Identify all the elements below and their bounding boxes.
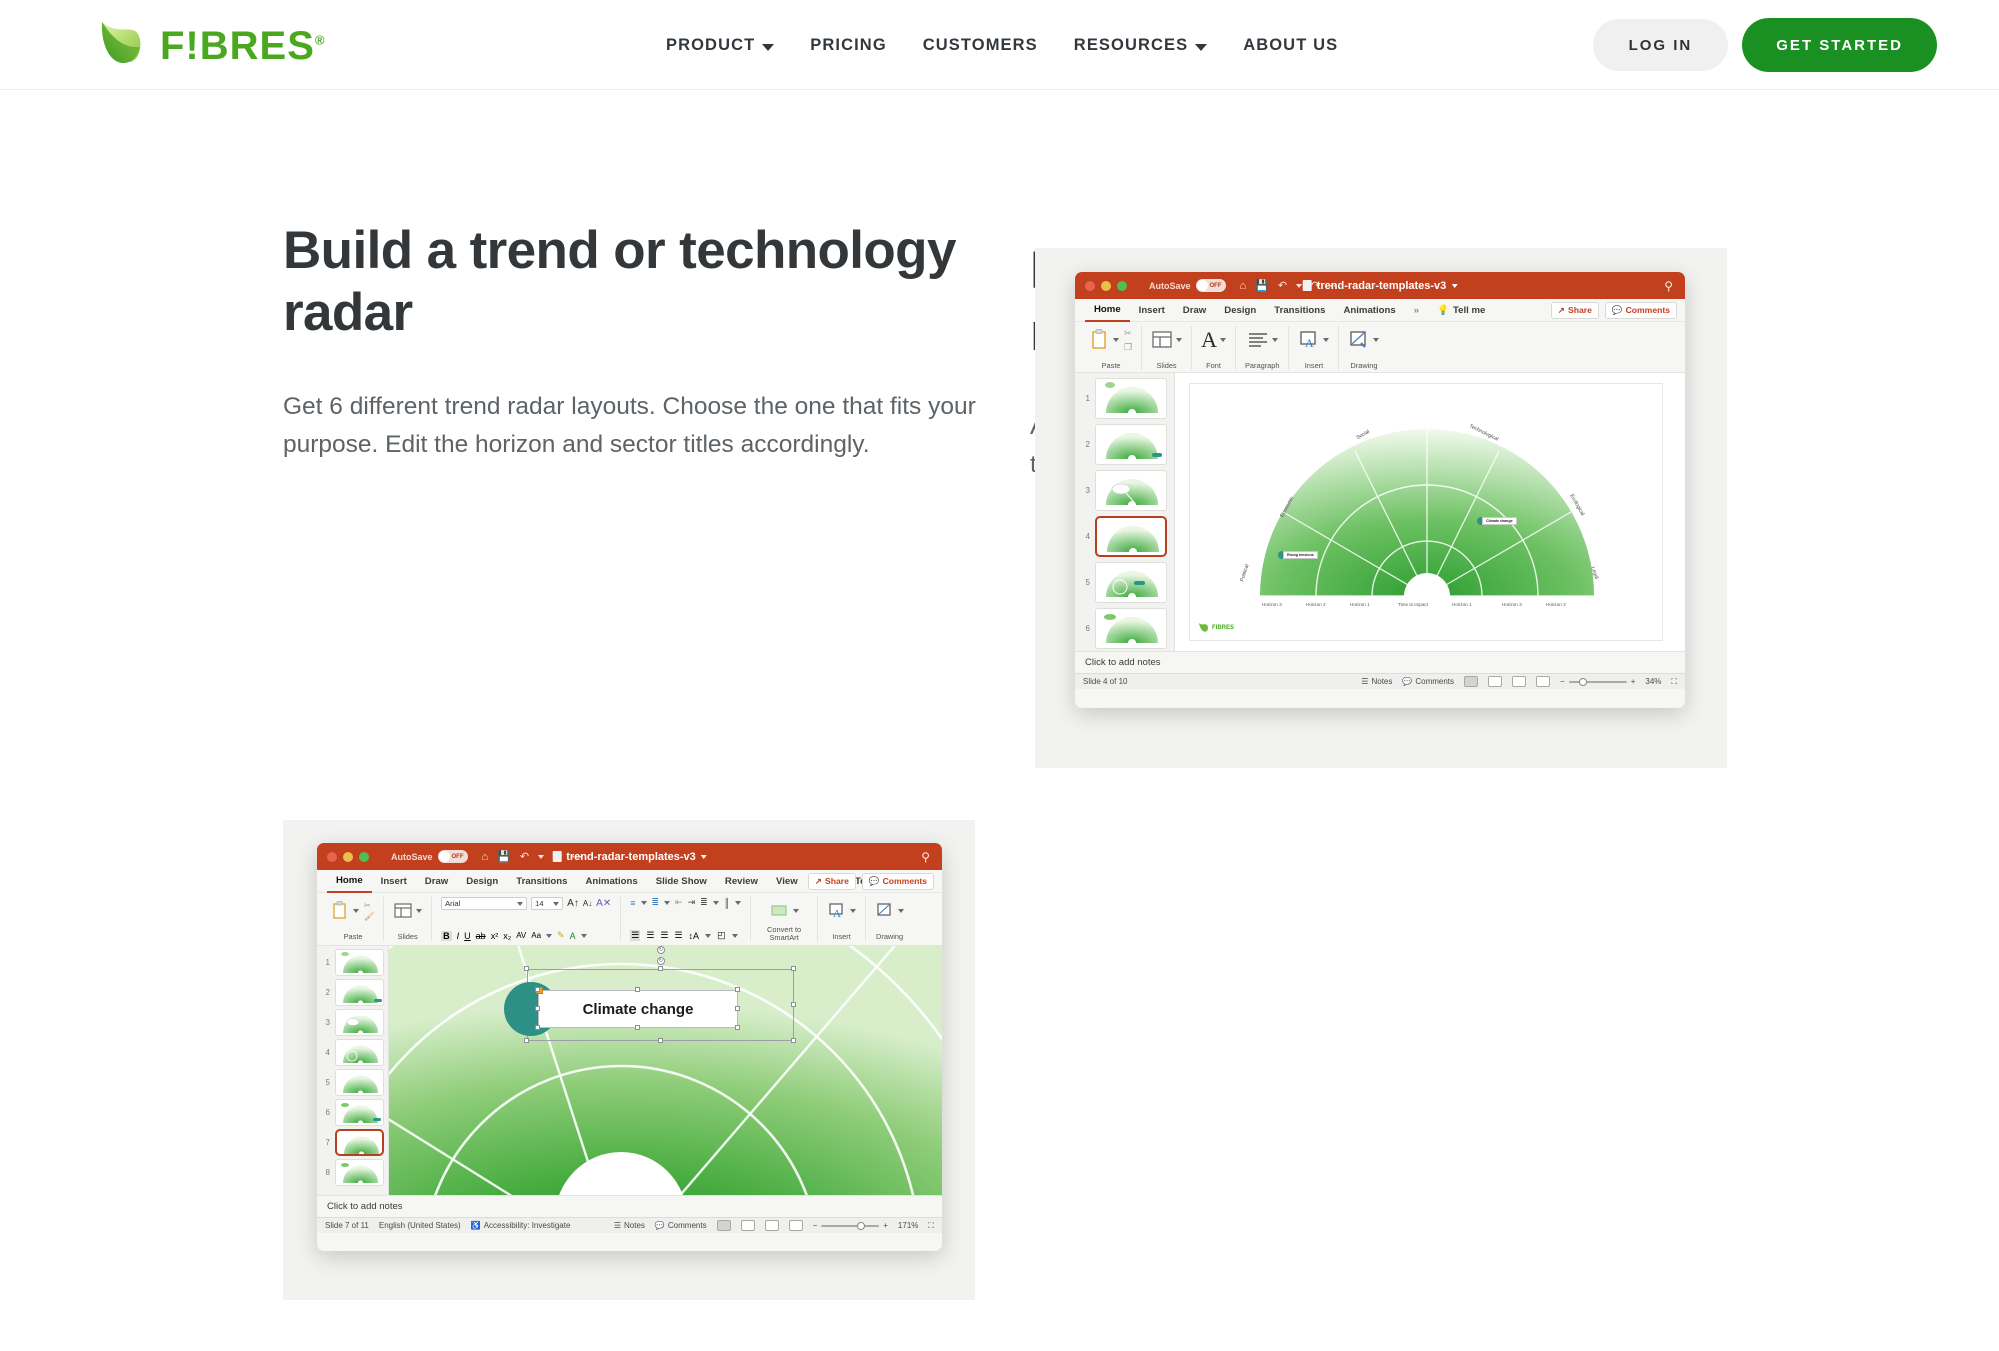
numbering-icon[interactable]: ≣ bbox=[652, 897, 660, 908]
fit-to-window-icon[interactable]: ⛶ bbox=[928, 1221, 934, 1231]
font-size-input[interactable]: 14 bbox=[531, 897, 563, 910]
ribbon-group-slides[interactable]: Slides bbox=[384, 897, 432, 941]
ppt-top-ribbon-tabs: Home Insert Draw Design Transitions Anim… bbox=[1075, 299, 1685, 322]
zoomed-radar-canvas[interactable]: ↻ ↻ Climate change bbox=[389, 946, 942, 1195]
section-1-text: Build a trend or technology radar Get 6 … bbox=[283, 220, 983, 464]
thumbnail-number: 4 bbox=[1081, 532, 1090, 541]
comment-icon: 💬 bbox=[869, 876, 880, 887]
minimize-icon[interactable] bbox=[1101, 281, 1111, 291]
autosave-toggle[interactable]: AutoSave OFF bbox=[391, 850, 468, 863]
superscript-icon[interactable]: x² bbox=[491, 931, 499, 941]
tab-animations[interactable]: Animations bbox=[1334, 299, 1404, 322]
zoom-in-icon[interactable]: + bbox=[883, 1221, 888, 1230]
comments-label: Comments bbox=[883, 876, 927, 886]
chevron-down-icon[interactable] bbox=[538, 855, 544, 859]
radar-horizon-label: Horizon 3 bbox=[1502, 602, 1522, 607]
slide-thumbnail[interactable] bbox=[1095, 608, 1167, 649]
slides-icon[interactable] bbox=[1151, 326, 1182, 354]
log-in-button[interactable]: LOG IN bbox=[1593, 19, 1729, 71]
ppt-top-titlebar: AutoSave OFF ⌂ 💾 ↶ ↷ ⋯ trend-radar-templ… bbox=[1075, 272, 1685, 299]
nav-label: CUSTOMERS bbox=[923, 36, 1038, 55]
ribbon-group-insert[interactable]: A Insert bbox=[1289, 326, 1339, 370]
font-size-value: 14 bbox=[535, 899, 543, 908]
trend-label-textbox[interactable]: Climate change bbox=[538, 990, 738, 1028]
save-icon[interactable]: 💾 bbox=[1255, 279, 1269, 292]
font-name-input[interactable]: Arial bbox=[441, 897, 527, 910]
comments-button[interactable]: 💬 Comments bbox=[655, 1221, 707, 1230]
search-icon[interactable]: ⚲ bbox=[921, 850, 930, 864]
chevron-down-icon[interactable] bbox=[850, 909, 856, 913]
autosave-label: AutoSave bbox=[391, 852, 433, 862]
ribbon-group-paste[interactable]: ✂ ❐ Paste bbox=[1081, 326, 1142, 370]
slide-fibres-logo: FIBRES bbox=[1198, 622, 1234, 633]
ribbon-group-label: Convert to SmartArt bbox=[760, 926, 808, 942]
svg-text:A: A bbox=[1305, 336, 1314, 350]
line-spacing-icon[interactable]: ≣ bbox=[700, 897, 708, 908]
zoom-knob[interactable] bbox=[857, 1222, 865, 1230]
slide-thumbnail[interactable] bbox=[335, 979, 384, 1006]
close-icon[interactable] bbox=[1085, 281, 1095, 291]
tabs-overflow-icon[interactable]: » bbox=[1405, 299, 1428, 322]
document-icon bbox=[552, 851, 561, 862]
ribbon-group-label: Paste bbox=[1102, 361, 1121, 370]
chevron-down-icon[interactable] bbox=[1451, 284, 1457, 288]
chevron-down-icon[interactable] bbox=[713, 901, 719, 905]
thumbnail-number: 8 bbox=[321, 1168, 330, 1177]
chevron-down-icon[interactable] bbox=[898, 909, 904, 913]
zoom-track[interactable] bbox=[821, 1225, 879, 1227]
zoom-out-icon[interactable]: − bbox=[813, 1221, 818, 1230]
tell-me-box[interactable]: 💡 Tell me bbox=[1428, 299, 1494, 322]
tab-transitions[interactable]: Transitions bbox=[1265, 299, 1334, 322]
selection-handle[interactable] bbox=[791, 1002, 796, 1007]
logo-registered-mark: ® bbox=[315, 33, 326, 48]
font-color-icon[interactable]: A bbox=[570, 931, 576, 941]
notes-label: Notes bbox=[1371, 677, 1392, 686]
radar-horizon-label: Horizon 3 bbox=[1546, 602, 1566, 607]
slide-logo-text: FIBRES bbox=[1212, 625, 1234, 631]
chevron-down-icon[interactable] bbox=[1113, 338, 1119, 342]
radar-bubble-climate-change[interactable]: Climate change bbox=[1477, 517, 1517, 525]
slide-counter: Slide 7 of 11 bbox=[325, 1221, 369, 1230]
selection-handle[interactable] bbox=[658, 1038, 663, 1043]
reading-view-button[interactable] bbox=[1512, 676, 1526, 687]
ribbon-group-paragraph[interactable]: ≡ ≣ ⇤ ⇥ ≣ ║ ☰ ☰ ☰ ☰ ↕A ◰ Paragr bbox=[621, 897, 751, 941]
logo[interactable]: F!BRES® bbox=[92, 14, 325, 72]
save-icon[interactable]: 💾 bbox=[497, 850, 511, 863]
chevron-down-icon[interactable] bbox=[416, 909, 422, 913]
thumbnail-number: 3 bbox=[321, 1018, 330, 1027]
maximize-icon[interactable] bbox=[359, 852, 369, 862]
chevron-down-icon bbox=[762, 44, 774, 51]
slide-sorter-view-button[interactable] bbox=[741, 1220, 755, 1231]
selection-handle[interactable] bbox=[791, 1038, 796, 1043]
slide-thumbnail[interactable] bbox=[335, 1039, 384, 1066]
ppt-bottom-notes[interactable]: Click to add notes bbox=[317, 1195, 942, 1217]
chevron-down-icon[interactable] bbox=[353, 909, 359, 913]
slide-sorter-view-button[interactable] bbox=[1488, 676, 1502, 687]
zoom-in-icon[interactable]: + bbox=[1631, 677, 1636, 686]
tab-home[interactable]: Home bbox=[1085, 299, 1130, 322]
ppt-top-slide-canvas[interactable]: Economic Social Technological Ecological… bbox=[1175, 373, 1685, 651]
slide-canvas[interactable]: Economic Social Technological Ecological… bbox=[1189, 383, 1663, 641]
ppt-top-ribbon-actions: ↗ Share 💬 Comments bbox=[1551, 302, 1677, 319]
align-right-icon[interactable]: ☰ bbox=[660, 930, 668, 941]
nav-item-product[interactable]: PRODUCT bbox=[648, 36, 792, 55]
comment-icon: 💬 bbox=[1402, 677, 1412, 686]
textbox-handle[interactable] bbox=[635, 1025, 640, 1030]
ppt-bottom-ribbon-tabs: Home Insert Draw Design Transitions Anim… bbox=[317, 870, 942, 893]
ppt-top-notes[interactable]: Click to add notes bbox=[1075, 651, 1685, 673]
zoom-level[interactable]: 34% bbox=[1645, 677, 1661, 686]
maximize-icon[interactable] bbox=[1117, 281, 1127, 291]
accessibility-label: Accessibility: Investigate bbox=[484, 1221, 571, 1230]
ribbon-group-font[interactable]: A Font bbox=[1192, 326, 1236, 370]
notes-label: Notes bbox=[624, 1221, 645, 1230]
home-icon[interactable]: ⌂ bbox=[1240, 280, 1247, 292]
increase-indent-icon[interactable]: ⇥ bbox=[688, 897, 696, 908]
ppt-bottom-body: 1 2 3 4 bbox=[317, 946, 942, 1195]
ppt-top-ribbon: ✂ ❐ Paste Slides A Font bbox=[1075, 322, 1685, 373]
copy-icon[interactable]: ❐ bbox=[1124, 342, 1132, 353]
textbox-handle[interactable] bbox=[735, 1006, 740, 1011]
chevron-down-icon bbox=[1195, 44, 1207, 51]
chevron-down-icon[interactable] bbox=[553, 902, 559, 906]
thumbnail-number: 5 bbox=[321, 1078, 330, 1087]
chevron-down-icon[interactable] bbox=[641, 901, 647, 905]
fit-to-window-icon[interactable]: ⛶ bbox=[1671, 677, 1677, 687]
drawing-icon[interactable] bbox=[875, 897, 904, 925]
slide-counter: Slide 4 of 10 bbox=[1083, 677, 1127, 686]
zoom-slider[interactable]: − + bbox=[813, 1221, 888, 1230]
tab-view[interactable]: View bbox=[767, 870, 807, 893]
chevron-down-icon[interactable] bbox=[701, 855, 707, 859]
normal-view-button[interactable] bbox=[717, 1220, 731, 1231]
ribbon-group-paragraph[interactable]: Paragraph bbox=[1236, 326, 1290, 370]
nav-item-about-us[interactable]: ABOUT US bbox=[1225, 36, 1356, 55]
window-controls[interactable] bbox=[327, 852, 369, 862]
justify-icon[interactable]: ☰ bbox=[674, 930, 682, 941]
chevron-down-icon[interactable] bbox=[1373, 338, 1379, 342]
thumbnail-item[interactable]: 2 bbox=[1081, 424, 1168, 465]
tab-home[interactable]: Home bbox=[327, 870, 372, 893]
thumbnail-number: 2 bbox=[1081, 440, 1090, 449]
accessibility-icon: ♿ bbox=[471, 1221, 481, 1230]
thumbnail-item[interactable]: 6 bbox=[1081, 608, 1168, 649]
undo-icon[interactable]: ↶ bbox=[1278, 279, 1287, 292]
convert-to-smartart-icon[interactable] bbox=[770, 897, 799, 925]
thumbnail-item[interactable]: 2 bbox=[321, 979, 384, 1006]
thumbnail-number: 6 bbox=[1081, 624, 1090, 633]
nav-label: ABOUT US bbox=[1243, 36, 1338, 55]
ribbon-group-insert[interactable]: A Insert bbox=[818, 897, 866, 941]
share-label: Share bbox=[825, 876, 849, 886]
thumbnail-number: 2 bbox=[321, 988, 330, 997]
autosave-state: OFF bbox=[452, 854, 464, 860]
thumbnail-item[interactable]: 6 bbox=[321, 1099, 384, 1126]
zoom-knob[interactable] bbox=[1579, 678, 1587, 686]
section-1-body: Get 6 different trend radar layouts. Cho… bbox=[283, 388, 983, 464]
paragraph-icon[interactable] bbox=[1247, 326, 1278, 354]
nav-item-pricing[interactable]: PRICING bbox=[792, 36, 904, 55]
tab-insert[interactable]: Insert bbox=[372, 870, 416, 893]
strikethrough-icon[interactable]: ab bbox=[476, 931, 486, 941]
notes-button[interactable]: ☰ Notes bbox=[1361, 677, 1392, 686]
insert-textbox-icon[interactable]: A bbox=[1298, 326, 1329, 354]
language-indicator[interactable]: English (United States) bbox=[379, 1221, 461, 1230]
thumbnail-item[interactable]: 4 bbox=[321, 1039, 384, 1066]
logo-text: F!BRES® bbox=[160, 26, 325, 66]
ribbon-group-label: Slides bbox=[1157, 361, 1177, 370]
ribbon-group-label: Paste bbox=[344, 932, 363, 941]
bold-icon[interactable]: B bbox=[441, 931, 452, 941]
tab-draw[interactable]: Draw bbox=[416, 870, 457, 893]
selection-handle[interactable] bbox=[658, 966, 663, 971]
fibres-leaf-icon bbox=[92, 14, 150, 72]
radar-bubble-rising-tensions[interactable]: Rising tensions bbox=[1278, 551, 1318, 559]
ribbon-group-label: Paragraph bbox=[1245, 361, 1280, 370]
textbox-handle[interactable] bbox=[535, 987, 540, 992]
reading-view-button[interactable] bbox=[765, 1220, 779, 1231]
share-button[interactable]: ↗ Share bbox=[1551, 302, 1599, 319]
radar-axis-label-time-to-impact: Time to impact bbox=[1398, 602, 1428, 607]
insert-textbox-icon[interactable]: A bbox=[827, 897, 856, 925]
italic-icon[interactable]: I bbox=[457, 931, 460, 941]
normal-view-button[interactable] bbox=[1464, 676, 1478, 687]
logo-wordmark: F!BRES bbox=[160, 24, 315, 68]
autosave-toggle[interactable]: AutoSave OFF bbox=[1149, 279, 1226, 292]
powerpoint-window-bottom: AutoSave OFF ⌂ 💾 ↶ ↷ ⋯ trend-radar-templ… bbox=[317, 843, 942, 1251]
slide-thumbnail[interactable] bbox=[1095, 470, 1167, 511]
thumbnail-item[interactable]: 7 bbox=[321, 1129, 384, 1156]
chevron-down-icon[interactable] bbox=[705, 934, 711, 938]
comments-label: Comments bbox=[668, 1221, 707, 1230]
ribbon-group-smartart[interactable]: Convert to SmartArt bbox=[751, 897, 818, 942]
slide-thumbnail[interactable] bbox=[335, 949, 384, 976]
main-nav: PRODUCT PRICING CUSTOMERS RESOURCES ABOU… bbox=[648, 0, 1356, 90]
selection-handle[interactable] bbox=[524, 966, 529, 971]
format-painter-icon[interactable]: 🖌 bbox=[364, 912, 374, 921]
thumbnail-item[interactable]: 4 bbox=[1081, 516, 1168, 557]
home-icon[interactable]: ⌂ bbox=[482, 851, 489, 863]
comments-button[interactable]: 💬 Comments bbox=[862, 873, 934, 890]
tab-design[interactable]: Design bbox=[457, 870, 507, 893]
comments-button[interactable]: 💬 Comments bbox=[1605, 302, 1677, 319]
chevron-down-icon[interactable] bbox=[664, 901, 670, 905]
align-center-icon[interactable]: ☰ bbox=[646, 930, 654, 941]
thumbnail-item[interactable]: 8 bbox=[321, 1159, 384, 1186]
ribbon-group-slides[interactable]: Slides bbox=[1142, 326, 1192, 370]
tab-transitions[interactable]: Transitions bbox=[507, 870, 576, 893]
chevron-down-icon[interactable] bbox=[546, 934, 552, 938]
document-icon bbox=[1303, 280, 1312, 291]
slide-thumbnail[interactable] bbox=[335, 1069, 384, 1096]
radar-horizon-label: Horizon 1 bbox=[1452, 602, 1472, 607]
chevron-down-icon[interactable] bbox=[1220, 338, 1226, 342]
tab-draw[interactable]: Draw bbox=[1174, 299, 1215, 322]
thumbnail-number: 5 bbox=[1081, 578, 1090, 587]
powerpoint-window-top: AutoSave OFF ⌂ 💾 ↶ ↷ ⋯ trend-radar-templ… bbox=[1075, 272, 1685, 708]
ppt-top-statusbar: Slide 4 of 10 ☰ Notes 💬 Comments − + 34%… bbox=[1075, 673, 1685, 689]
ribbon-group-label: Font bbox=[1206, 361, 1221, 370]
chevron-down-icon[interactable] bbox=[517, 902, 523, 906]
comments-label: Comments bbox=[1626, 305, 1670, 315]
ppt-bottom-thumbnail-panel[interactable]: 1 2 3 4 bbox=[317, 946, 389, 1195]
slide-thumbnail[interactable] bbox=[335, 1009, 384, 1036]
clear-formatting-icon[interactable]: A✕ bbox=[596, 898, 611, 909]
nav-item-customers[interactable]: CUSTOMERS bbox=[905, 36, 1056, 55]
slide-thumbnail[interactable] bbox=[335, 1159, 384, 1186]
tab-design[interactable]: Design bbox=[1215, 299, 1265, 322]
filename-label: trend-radar-templates-v3 bbox=[1317, 280, 1447, 292]
paste-icon[interactable]: ✂ 🖌 bbox=[332, 897, 374, 925]
selection-handle[interactable] bbox=[791, 966, 796, 971]
nav-label: PRICING bbox=[810, 36, 886, 55]
drawing-icon[interactable] bbox=[1348, 326, 1379, 354]
tab-review[interactable]: Review bbox=[716, 870, 767, 893]
section-1-heading: Build a trend or technology radar bbox=[283, 220, 983, 344]
zoom-out-icon[interactable]: − bbox=[1560, 677, 1565, 686]
thumbnail-item[interactable]: 1 bbox=[1081, 378, 1168, 419]
thumbnail-number: 3 bbox=[1081, 486, 1090, 495]
autosave-switch[interactable]: OFF bbox=[438, 850, 468, 863]
increase-font-size-icon[interactable]: A↑ bbox=[567, 898, 579, 909]
minimize-icon[interactable] bbox=[343, 852, 353, 862]
zoom-level[interactable]: 171% bbox=[898, 1221, 918, 1230]
ribbon-group-drawing[interactable]: Drawing bbox=[1339, 326, 1388, 370]
selection-handle[interactable] bbox=[524, 1038, 529, 1043]
accessibility-status[interactable]: ♿ Accessibility: Investigate bbox=[471, 1221, 571, 1230]
close-icon[interactable] bbox=[327, 852, 337, 862]
slide-thumbnail-selected[interactable] bbox=[335, 1129, 384, 1156]
autosave-state: OFF bbox=[1210, 283, 1222, 289]
nav-item-resources[interactable]: RESOURCES bbox=[1056, 36, 1225, 55]
undo-icon[interactable]: ↶ bbox=[520, 850, 529, 863]
underline-icon[interactable]: U bbox=[464, 931, 471, 941]
slide-thumbnail-selected[interactable] bbox=[1095, 516, 1167, 557]
ppt-bottom-statusbar: Slide 7 of 11 English (United States) ♿ … bbox=[317, 1217, 942, 1233]
comments-label: Comments bbox=[1415, 677, 1454, 686]
trend-radar-chart: Economic Social Technological Ecological… bbox=[1190, 384, 1663, 641]
text-direction-icon[interactable]: ↕A bbox=[689, 931, 700, 941]
get-started-button[interactable]: GET STARTED bbox=[1742, 18, 1937, 72]
notes-button[interactable]: ☰ Notes bbox=[614, 1221, 645, 1230]
ribbon-group-font[interactable]: Arial 14 A↑ A↓ A✕ B I U ab x² x₂ AV Aa bbox=[432, 897, 621, 941]
columns-icon[interactable]: ║ bbox=[724, 898, 730, 908]
comments-button[interactable]: 💬 Comments bbox=[1402, 677, 1454, 686]
subscript-icon[interactable]: x₂ bbox=[503, 931, 511, 941]
autosave-knob bbox=[439, 851, 450, 862]
slide-thumbnail[interactable] bbox=[335, 1099, 384, 1126]
text-highlight-icon[interactable]: ✎ bbox=[557, 930, 565, 941]
change-case-icon[interactable]: Aa bbox=[531, 931, 541, 940]
zoom-slider[interactable]: − + bbox=[1560, 677, 1635, 686]
slide-thumbnail[interactable] bbox=[1095, 378, 1167, 419]
chevron-down-icon[interactable] bbox=[1176, 338, 1182, 342]
nav-label: PRODUCT bbox=[666, 36, 755, 55]
tab-slide-show[interactable]: Slide Show bbox=[647, 870, 716, 893]
font-icon[interactable]: A bbox=[1201, 326, 1226, 354]
autosave-knob bbox=[1197, 280, 1208, 291]
thumbnail-number: 6 bbox=[321, 1108, 330, 1117]
thumbnail-item[interactable]: 3 bbox=[1081, 470, 1168, 511]
font-name-value: Arial bbox=[445, 899, 460, 908]
chevron-down-icon[interactable] bbox=[735, 901, 741, 905]
ribbon-group-drawing[interactable]: Drawing bbox=[866, 897, 913, 941]
notes-icon: ☰ bbox=[1361, 677, 1368, 686]
chevron-down-icon[interactable] bbox=[1296, 284, 1302, 288]
slideshow-view-button[interactable] bbox=[1536, 676, 1550, 687]
cut-icon[interactable]: ✂ bbox=[1124, 328, 1132, 339]
chevron-down-icon[interactable] bbox=[581, 934, 587, 938]
textbox-handle[interactable] bbox=[535, 1006, 540, 1011]
comment-icon: 💬 bbox=[1612, 305, 1623, 316]
filename-label: trend-radar-templates-v3 bbox=[566, 851, 696, 863]
thumbnail-item[interactable]: 5 bbox=[321, 1069, 384, 1096]
ribbon-group-paste[interactable]: ✂ 🖌 Paste bbox=[323, 897, 384, 941]
tab-insert[interactable]: Insert bbox=[1130, 299, 1174, 322]
thumbnail-number: 1 bbox=[1081, 394, 1090, 403]
slides-icon[interactable] bbox=[393, 897, 422, 925]
thumbnail-item[interactable]: 5 bbox=[1081, 562, 1168, 603]
tab-animations[interactable]: Animations bbox=[576, 870, 646, 893]
thumbnail-item[interactable]: 1 bbox=[321, 949, 384, 976]
textbox-handle[interactable] bbox=[735, 987, 740, 992]
notes-icon: ☰ bbox=[614, 1221, 621, 1230]
zoom-track[interactable] bbox=[1569, 681, 1627, 683]
decrease-indent-icon[interactable]: ⇤ bbox=[675, 897, 683, 908]
bubble-label: Climate change bbox=[1482, 517, 1517, 525]
bullets-icon[interactable]: ≡ bbox=[630, 898, 635, 908]
ppt-bottom-filename[interactable]: trend-radar-templates-v3 bbox=[552, 851, 707, 863]
ppt-top-filename[interactable]: trend-radar-templates-v3 bbox=[1303, 280, 1458, 292]
ppt-top-thumbnail-panel[interactable]: 1 2 3 4 bbox=[1075, 373, 1175, 651]
ppt-bottom-slide-canvas[interactable]: ↻ ↻ Climate change bbox=[389, 946, 942, 1195]
textbox-handle[interactable] bbox=[535, 1025, 540, 1030]
ribbon-group-label: Drawing bbox=[876, 932, 903, 941]
paste-icon[interactable]: ✂ ❐ bbox=[1090, 326, 1132, 354]
autosave-switch[interactable]: OFF bbox=[1196, 279, 1226, 292]
svg-text:A: A bbox=[833, 908, 841, 920]
share-icon: ↗ bbox=[815, 876, 822, 887]
chevron-down-icon[interactable] bbox=[1323, 338, 1329, 342]
bubble-label: Rising tensions bbox=[1283, 551, 1318, 559]
search-icon[interactable]: ⚲ bbox=[1664, 279, 1673, 293]
textbox-handle[interactable] bbox=[735, 1025, 740, 1030]
chevron-down-icon[interactable] bbox=[1272, 338, 1278, 342]
align-text-icon[interactable]: ◰ bbox=[717, 930, 726, 941]
slide-thumbnail[interactable] bbox=[1095, 424, 1167, 465]
decrease-font-size-icon[interactable]: A↓ bbox=[583, 899, 592, 908]
window-controls[interactable] bbox=[1085, 281, 1127, 291]
thumbnail-item[interactable]: 3 bbox=[321, 1009, 384, 1036]
textbox-handle[interactable] bbox=[635, 987, 640, 992]
nav-label: RESOURCES bbox=[1074, 36, 1188, 55]
chevron-down-icon[interactable] bbox=[732, 934, 738, 938]
chevron-down-icon[interactable] bbox=[793, 909, 799, 913]
cut-icon[interactable]: ✂ bbox=[364, 901, 374, 910]
ppt-bottom-ribbon: ✂ 🖌 Paste Slides Arial 14 bbox=[317, 893, 942, 946]
radar-horizon-label: Horizon 2 bbox=[1306, 602, 1326, 607]
share-button[interactable]: ↗ Share bbox=[808, 873, 856, 890]
slide-thumbnail[interactable] bbox=[1095, 562, 1167, 603]
share-icon: ↗ bbox=[1558, 305, 1565, 316]
comment-icon: 💬 bbox=[655, 1221, 665, 1230]
slideshow-view-button[interactable] bbox=[789, 1220, 803, 1231]
character-spacing-icon[interactable]: AV bbox=[516, 931, 526, 940]
align-left-icon[interactable]: ☰ bbox=[630, 930, 640, 941]
radar-horizon-label: Horizon 3 bbox=[1262, 602, 1282, 607]
